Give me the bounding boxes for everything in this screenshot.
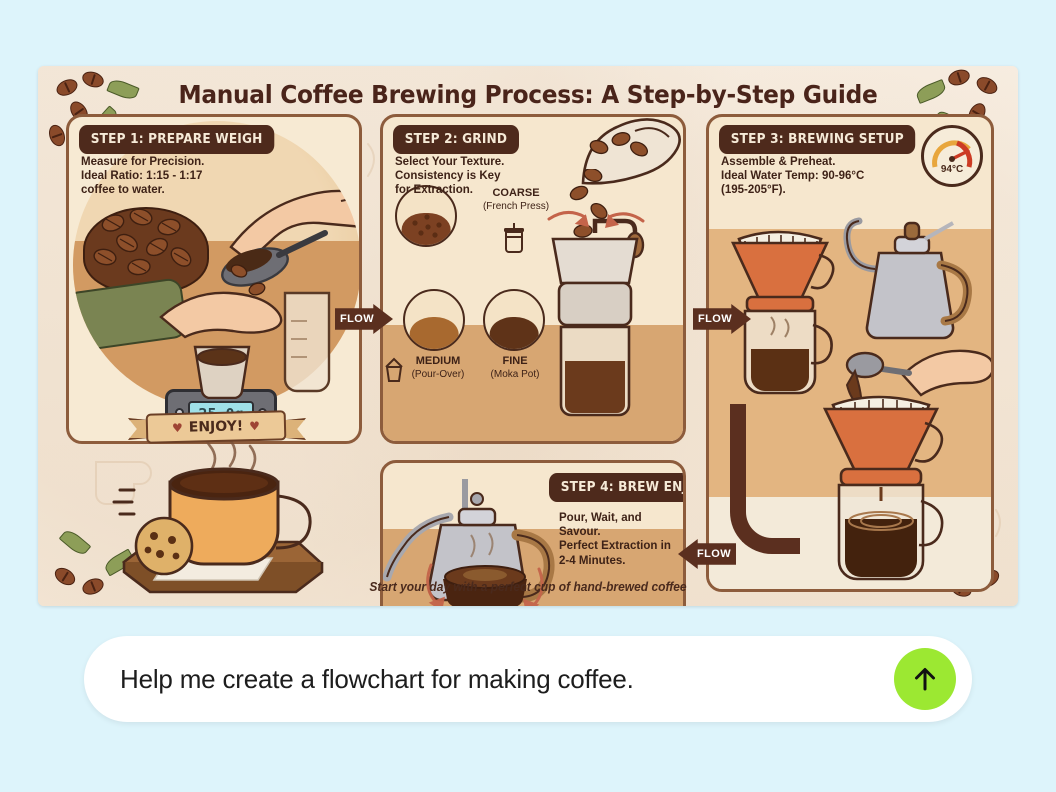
- flow-connector-elbow: [730, 404, 800, 554]
- chat-message-text[interactable]: Help me create a flowchart for making co…: [84, 664, 894, 695]
- enjoy-label: ENJOY!: [189, 418, 244, 435]
- grind-sample-fine: [483, 289, 545, 351]
- thermometer-gauge: 94°C: [921, 125, 983, 187]
- french-press-icon: [501, 223, 527, 253]
- hand-grinder: [531, 209, 661, 439]
- send-button[interactable]: [894, 648, 956, 710]
- step-1-body: Measure for Precision. Ideal Ratio: 1:15…: [81, 155, 204, 198]
- step-2-body: Select Your Texture. Consistency is Key …: [395, 155, 504, 198]
- step-1-panel: 25.0g STEP 1: PREPARE WEIGH Measure for …: [66, 114, 362, 444]
- infographic-poster: Manual Coffee Brewing Process: A Step-by…: [38, 66, 1018, 606]
- flow-label: FLOW: [697, 548, 731, 560]
- flow-label: FLOW: [340, 313, 374, 325]
- grind-label-medium: MEDIUM (Pour-Over): [395, 355, 481, 381]
- grind-sample-medium: [403, 289, 465, 351]
- step-4-tag: STEP 4: BREW ENJOY: [549, 473, 686, 502]
- heart-icon-left: ♥: [172, 421, 183, 435]
- moka-pot-icon: [381, 357, 407, 383]
- thermometer-reading: 94°C: [921, 164, 983, 175]
- enjoy-banner: ♥ ENJOY! ♥: [146, 410, 287, 443]
- step-2-panel: COARSE (French Press) MEDIUM (Pour-Over)…: [380, 114, 686, 444]
- step-4-body: Pour, Wait, and Savour. Perfect Extracti…: [559, 511, 683, 568]
- cup-on-scale: [187, 341, 257, 399]
- step-3-tag: STEP 3: BREWING SETUP: [719, 125, 916, 154]
- measuring-glass: [275, 287, 341, 395]
- grind-label-fine: FINE (Moka Pot): [475, 355, 555, 381]
- step-2-tag: STEP 2: GRIND: [393, 125, 519, 154]
- heart-icon-right: ♥: [249, 419, 260, 433]
- step-1-tag: STEP 1: PREPARE WEIGH: [79, 125, 274, 154]
- page-title: Manual Coffee Brewing Process: A Step-by…: [72, 80, 983, 109]
- arrow-up-icon: [910, 664, 940, 694]
- flow-label: FLOW: [698, 313, 732, 325]
- pourover-dripper-carafe-bottom: [815, 379, 965, 592]
- step-3-body: Assemble & Preheat. Ideal Water Temp: 90…: [721, 155, 864, 198]
- chat-input-bar[interactable]: Help me create a flowchart for making co…: [84, 636, 972, 722]
- poster-tagline: Start your day with a perfect cup of han…: [58, 580, 999, 594]
